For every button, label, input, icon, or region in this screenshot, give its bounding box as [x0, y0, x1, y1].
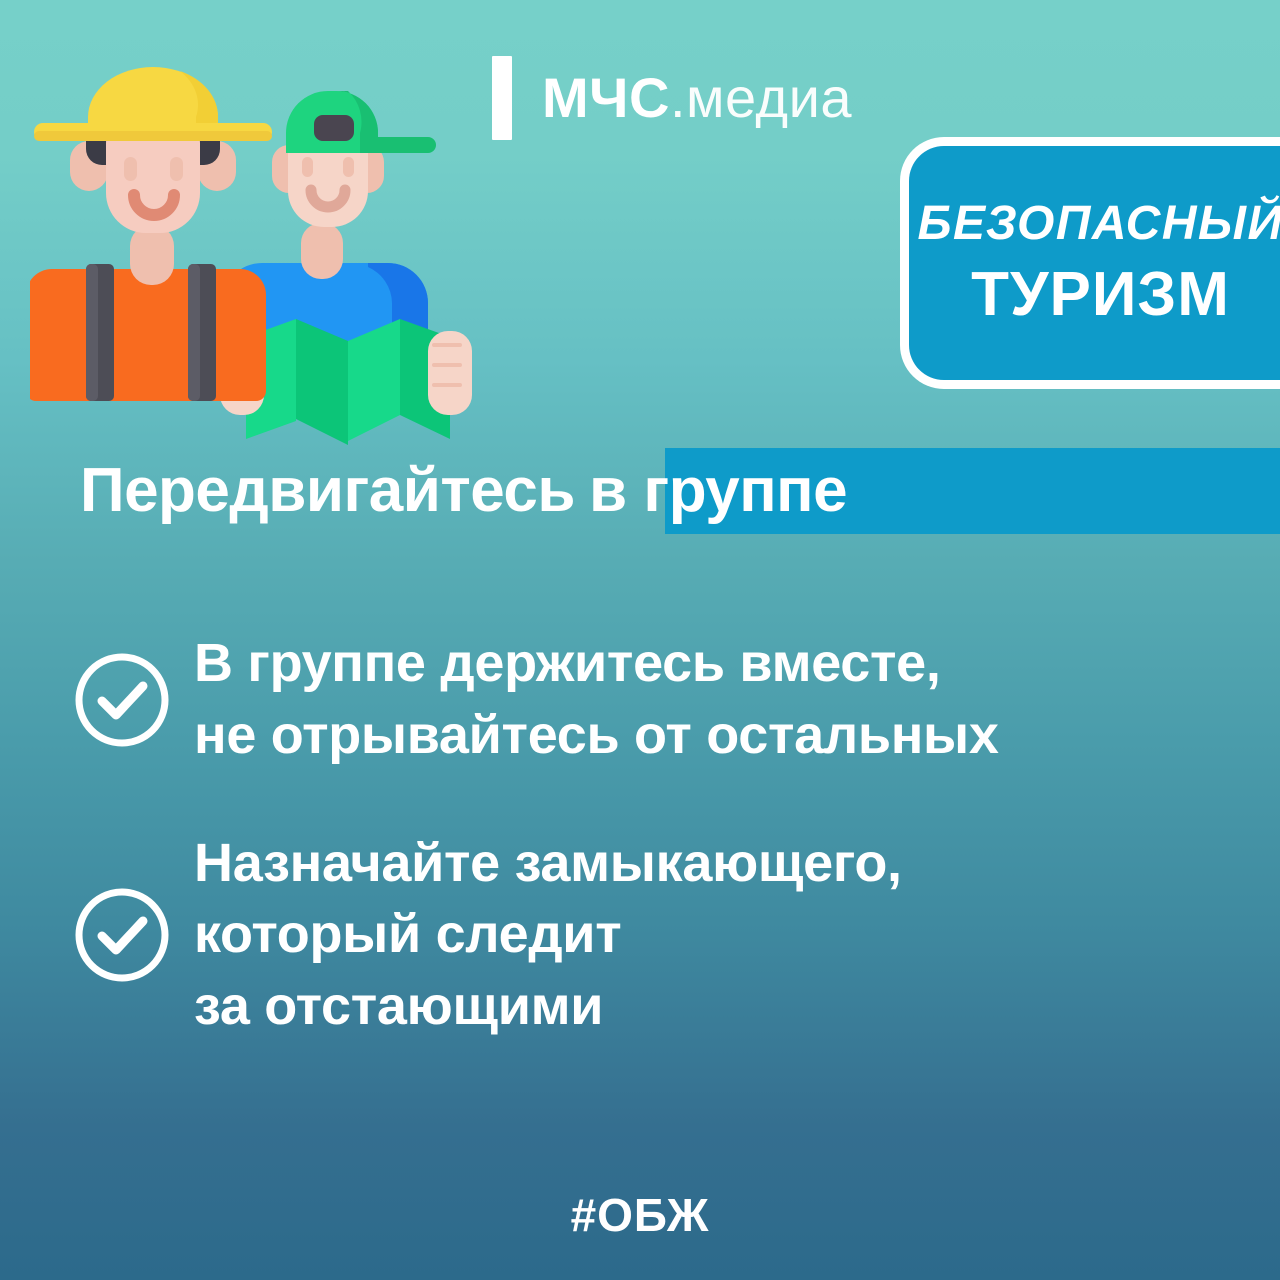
hiker-with-sun-hat — [30, 67, 272, 401]
list-item-line: за отстающими — [194, 971, 902, 1043]
list-item-text: В группе держитесь вместе, не отрывайтес… — [194, 628, 999, 772]
list-item-text: Назначайте замыкающего, который следит з… — [194, 828, 902, 1043]
list-item-line: который следит — [194, 899, 902, 971]
headline: Передвигайтесьв группе — [0, 444, 1280, 538]
list-item: Назначайте замыкающего, который следит з… — [0, 828, 1280, 1043]
headline-segment-plain: Передвигайтесь — [80, 460, 575, 522]
list-item-line: Назначайте замыкающего, — [194, 828, 902, 900]
two-hikers-illustration — [30, 45, 500, 457]
check-circle-icon — [72, 885, 172, 985]
advice-list: В группе держитесь вместе, не отрывайтес… — [0, 628, 1280, 1043]
safe-tourism-badge: БЕЗОПАСНЫЙ ТУРИЗМ — [900, 137, 1280, 389]
headline-segment-highlighted: в группе — [589, 460, 847, 522]
list-item-line: не отрывайтесь от остальных — [194, 700, 999, 772]
list-item: В группе держитесь вместе, не отрывайтес… — [0, 628, 1280, 772]
logo-text: МЧС.медиа — [542, 70, 852, 126]
page-title: Передвигайтесьв группе — [80, 444, 847, 538]
logo-thin-text: .медиа — [670, 66, 852, 129]
footer-hashtag: #ОБЖ — [0, 1188, 1280, 1242]
badge-line-2: ТУРИЗМ — [971, 264, 1230, 326]
badge-line-1: БЕЗОПАСНЫЙ — [918, 200, 1280, 248]
logo-bold-text: МЧС — [542, 66, 670, 129]
infographic-poster: МЧС.медиа БЕЗОПАСНЫЙ ТУРИЗМ Передвигайте… — [0, 0, 1280, 1280]
mchs-media-logo: МЧС.медиа — [492, 52, 852, 144]
check-circle-icon — [72, 650, 172, 750]
vertical-bar-icon — [492, 56, 512, 140]
list-item-line: В группе держитесь вместе, — [194, 628, 999, 700]
